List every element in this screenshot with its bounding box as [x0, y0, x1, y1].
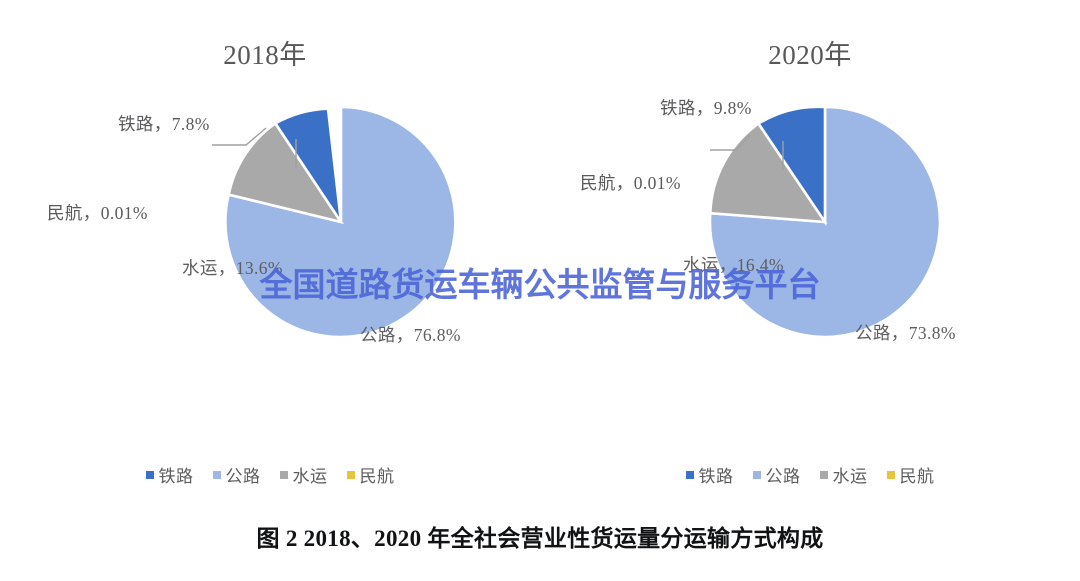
legend-swatch-waterway-icon	[820, 471, 828, 479]
legend-label-highway: 公路	[226, 462, 261, 487]
legend-item-railway-2020[interactable]: 铁路	[686, 462, 734, 487]
legend-label-waterway: 水运	[293, 462, 328, 487]
pie-chart-2018	[0, 65, 540, 405]
chart-panel-2020: 2020年 铁路，9.8% 民航，0.01% 水运，16.4% 公路，73.8%	[540, 0, 1080, 510]
legend-item-railway-2018[interactable]: 铁路	[146, 462, 194, 487]
chart-panel-2018: 2018年 铁路，7.8% 民航，0.01% 水运，13.6% 公路，76.8%	[0, 0, 540, 510]
legend-item-highway-2020[interactable]: 公路	[753, 462, 801, 487]
legend-swatch-waterway-icon	[280, 471, 288, 479]
label-aviation-2020: 民航，0.01%	[580, 170, 681, 195]
legend-swatch-railway-icon	[686, 471, 694, 479]
label-highway-2018: 公路，76.8%	[360, 322, 461, 347]
legend-label-aviation: 民航	[360, 462, 395, 487]
legend-label-railway: 铁路	[159, 462, 194, 487]
figure-container: 2018年 铁路，7.8% 民航，0.01% 水运，13.6% 公路，76.8%	[0, 0, 1080, 581]
pie-chart-2020	[540, 65, 1080, 405]
legend-swatch-highway-icon	[753, 471, 761, 479]
legend-label-highway: 公路	[766, 462, 801, 487]
label-waterway-2018: 水运，13.6%	[182, 255, 283, 280]
legend-label-waterway: 水运	[833, 462, 868, 487]
label-railway-2020: 铁路，9.8%	[660, 95, 752, 120]
legend-item-waterway-2020[interactable]: 水运	[820, 462, 868, 487]
label-highway-2020: 公路，73.8%	[855, 320, 956, 345]
legend-swatch-railway-icon	[146, 471, 154, 479]
legend-2018: 铁路 公路 水运 民航	[0, 462, 540, 487]
label-waterway-2020: 水运，16.4%	[683, 252, 784, 277]
legend-swatch-aviation-icon	[347, 471, 355, 479]
legend-swatch-highway-icon	[213, 471, 221, 479]
legend-swatch-aviation-icon	[887, 471, 895, 479]
figure-caption: 图 2 2018、2020 年全社会营业性货运量分运输方式构成	[0, 519, 1080, 553]
legend-2020: 铁路 公路 水运 民航	[540, 462, 1080, 487]
label-aviation-2018: 民航，0.01%	[47, 200, 148, 225]
legend-item-aviation-2018[interactable]: 民航	[347, 462, 395, 487]
legend-item-aviation-2020[interactable]: 民航	[887, 462, 935, 487]
legend-item-waterway-2018[interactable]: 水运	[280, 462, 328, 487]
legend-label-aviation: 民航	[900, 462, 935, 487]
label-railway-2018: 铁路，7.8%	[118, 111, 210, 136]
legend-label-railway: 铁路	[699, 462, 734, 487]
legend-item-highway-2018[interactable]: 公路	[213, 462, 261, 487]
